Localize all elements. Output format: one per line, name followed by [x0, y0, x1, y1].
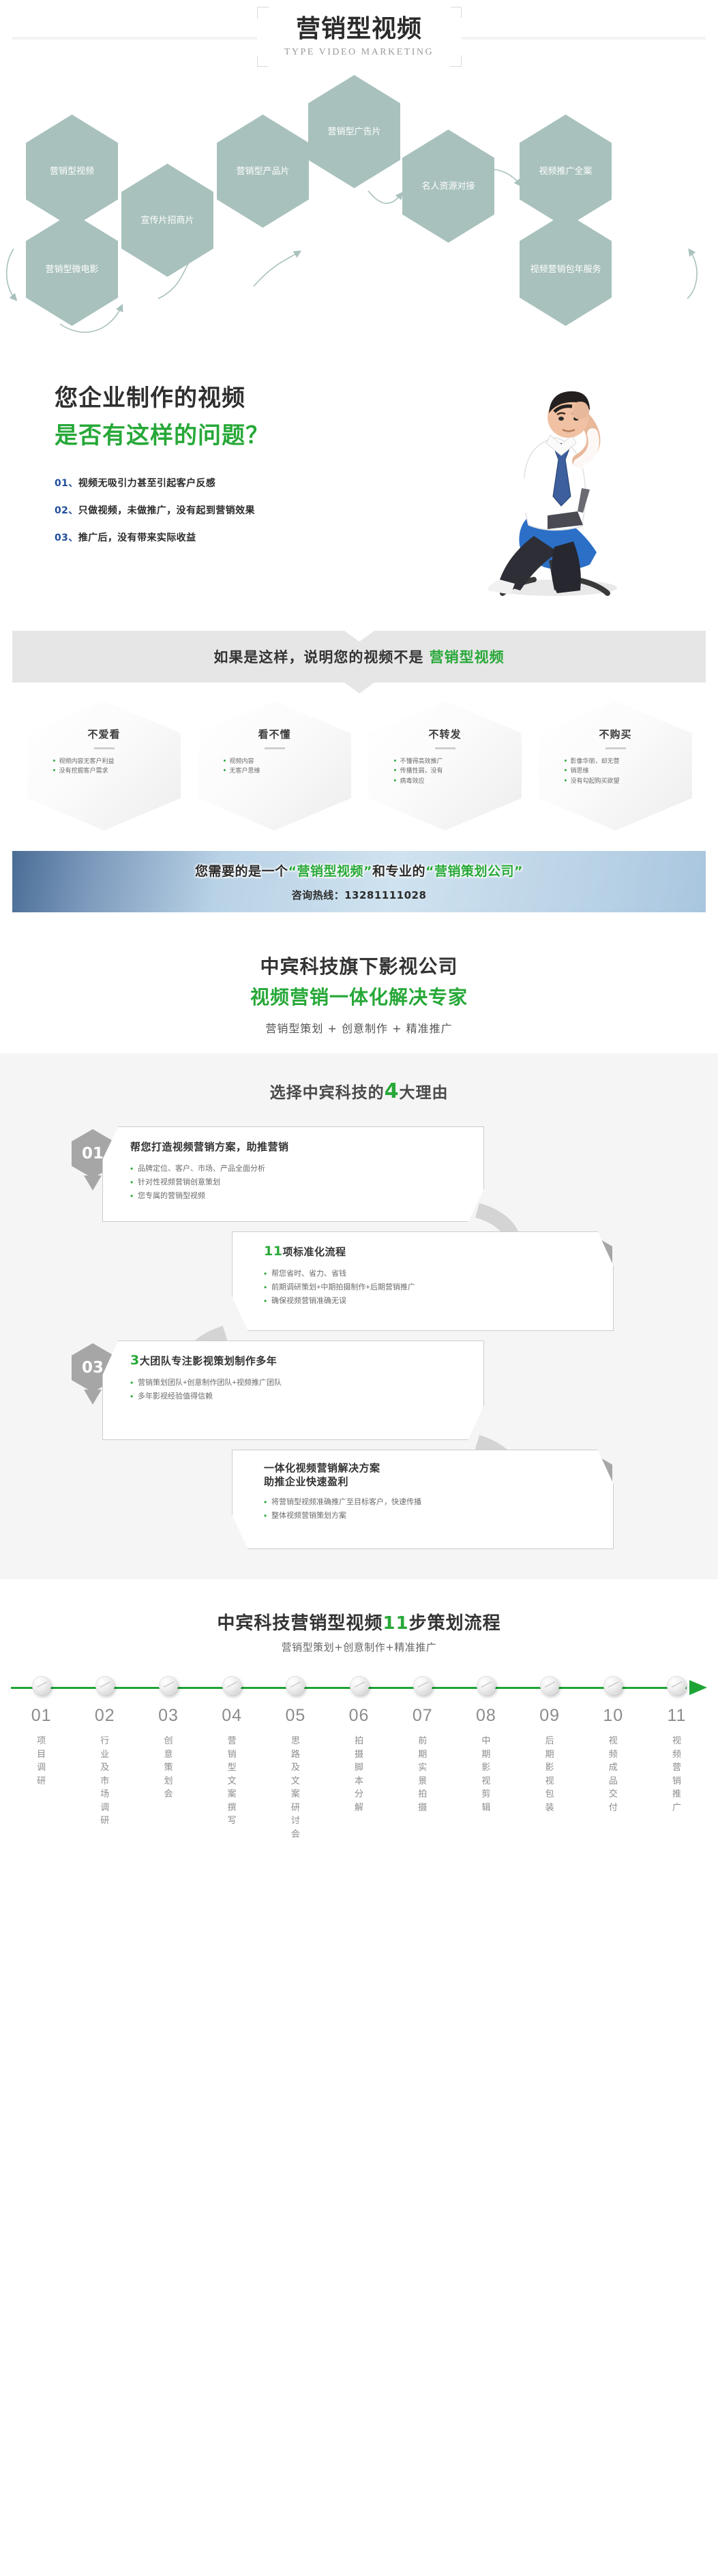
reason-row-04: 04 一体化视频营销解决方案 助推企业快速盈利 将营销型视频准确推广至目标客户，… [0, 1443, 718, 1552]
hotline-headline: 您需要的是一个“营销型视频”和专业的“营销策划公司” [195, 861, 523, 880]
timeline-step-08[interactable]: 08 中期影视剪辑 [454, 1676, 518, 1840]
reason-heading: 一体化视频营销解决方案 助推企业快速盈利 [264, 1461, 586, 1489]
hotline-quote-2: “营销策划公司” [425, 864, 523, 879]
reason-heading-text: 帮您打造视频营销方案，助推营销 [130, 1141, 289, 1153]
symptom-bullet: 不懂得高效推广 [394, 756, 496, 766]
reason-number: 03 [82, 1359, 104, 1377]
step-label: 行业及市场调研 [98, 1734, 112, 1827]
symptom-divider [94, 747, 115, 749]
symptom-bullet: 传播性弱，没有 [394, 766, 496, 775]
flow-header: 中宾科技营销型视频11步策划流程 营销型策划+创意制作+精准推广 [0, 1579, 718, 1672]
reason-badge-tail-icon [84, 1390, 102, 1405]
reason-bullet: 营销策划团队+创意制作团队+视频推广团队 [130, 1376, 466, 1390]
timeline-dot-icon [222, 1676, 241, 1695]
problem-item-number: 03、 [55, 533, 78, 543]
service-hex-label: 视频营销包年服务 [526, 263, 605, 276]
timeline-dot-icon [286, 1676, 305, 1695]
problem-text-block: 您企业制作的视频 是否有这样的问题？ 01、视频无吸引力甚至引起客户反感 02、… [55, 379, 269, 558]
reason-bullet: 将营销型视频准确推广至目标客户，快速传播 [264, 1495, 586, 1509]
problem-item-text: 只做视频，未做推广，没有起到营销效果 [78, 505, 255, 515]
service-hex-label: 视频推广全案 [535, 165, 596, 178]
service-hexagon-cluster: 营销型视频 营销型微电影 宣传片招商片 营销型产品片 营销型广告片 名人资源对接… [0, 82, 718, 348]
problem-item-number: 01、 [55, 478, 78, 489]
symptom-bullet: 无客户思维 [224, 766, 326, 775]
reason-card-02[interactable]: 11项标准化流程 帮您省时、省力、省钱 前期调研策划+中期拍摄制作+后期营销推广… [232, 1231, 614, 1331]
timeline-dot-icon [540, 1676, 559, 1695]
reason-card-01[interactable]: 帮您打造视频营销方案，助推营销 品牌定位、客户、市场、产品全面分析 针对性视频营… [102, 1126, 484, 1222]
callout-notch-top-icon [344, 631, 374, 642]
step-number: 04 [222, 1706, 242, 1726]
symptom-title: 不转发 [428, 727, 461, 741]
reason-bullet: 针对性视频营销创意策划 [130, 1175, 466, 1189]
timeline-step-11[interactable]: 11 视频营销推广 [645, 1676, 708, 1840]
reason-row-02: 02 11项标准化流程 帮您省时、省力、省钱 前期调研策划+中期拍摄制作+后期营… [0, 1225, 718, 1334]
timeline-dot-icon [413, 1676, 432, 1695]
step-label: 中期影视剪辑 [479, 1734, 493, 1814]
problem-list-item: 01、视频无吸引力甚至引起客户反感 [55, 476, 269, 490]
step-number: 07 [413, 1706, 433, 1726]
step-label: 后期影视包装 [543, 1734, 556, 1814]
hotline-banner: 您需要的是一个“营销型视频”和专业的“营销策划公司” 咨询热线：13281111… [12, 851, 706, 912]
step-label: 视频成品交付 [606, 1734, 620, 1814]
callout-text: 如果是这样，说明您的视频不是 营销型视频 [213, 646, 504, 667]
problem-section: 您企业制作的视频 是否有这样的问题？ 01、视频无吸引力甚至引起客户反感 02、… [0, 348, 718, 620]
symptom-bullet-cont: 病毒效应 [394, 776, 496, 785]
reason-bullet: 品牌定位、客户、市场、产品全面分析 [130, 1162, 466, 1175]
reason-heading-line2: 助推企业快速盈利 [264, 1476, 348, 1488]
landing-page: 营销型视频 TYPE VIDEO MARKETING 营销型视频 [0, 0, 718, 1876]
service-hex-ad-film[interactable]: 营销型广告片 [308, 75, 400, 188]
symptom-title: 看不懂 [258, 727, 290, 741]
reason-heading: 3大团队专注影视策划制作多年 [130, 1352, 466, 1370]
step-label: 视频营销推广 [670, 1734, 683, 1814]
problem-headline-line1: 您企业制作的视频 [55, 379, 269, 413]
timeline-dot-icon [350, 1676, 369, 1695]
page-title: 营销型视频 TYPE VIDEO MARKETING [257, 7, 462, 67]
symptom-divider [265, 747, 285, 749]
timeline-step-02[interactable]: 02 行业及市场调研 [73, 1676, 136, 1840]
reason-heading-text: 项标准化流程 [282, 1246, 346, 1258]
reason-heading-line1: 一体化视频营销解决方案 [264, 1462, 380, 1474]
symptom-bullet: 没有勾起购买欲望 [565, 776, 667, 785]
service-hex-label: 宣传片招商片 [136, 214, 198, 227]
timeline-step-01[interactable]: 01 项目调研 [10, 1676, 73, 1840]
frustrated-businessman-photo [452, 375, 657, 600]
timeline-dot-icon [667, 1676, 686, 1695]
symptom-card-not-understand: 看不懂 视频内容 无客户思维 [198, 710, 351, 840]
symptom-bullet: 视频内容无客户利益 [53, 756, 155, 766]
timeline-step-03[interactable]: 03 创意策划会 [136, 1676, 200, 1840]
reason-row-01: 01 帮您打造视频营销方案，助推营销 品牌定位、客户、市场、产品全面分析 针对性… [0, 1122, 718, 1225]
hotline-number[interactable]: 咨询热线：13281111028 [292, 888, 427, 902]
service-hex-label: 名人资源对接 [417, 180, 479, 193]
reasons-title: 选择中宾科技的4大理由 [0, 1079, 718, 1103]
service-hex-annual-service[interactable]: 视频营销包年服务 [520, 213, 612, 326]
problem-list-item: 03、推广后，没有带来实际收益 [55, 530, 269, 544]
symptom-divider [605, 747, 626, 749]
symptom-bullet: 影像华丽，却无营 [565, 756, 667, 766]
symptom-bullet-cont: 销思维 [565, 766, 667, 775]
reason-bullet: 前期调研策划+中期拍摄制作+后期营销推广 [264, 1280, 586, 1294]
service-hex-celebrity-resource[interactable]: 名人资源对接 [402, 130, 494, 243]
step-label: 项目调研 [35, 1734, 48, 1787]
reason-card-04[interactable]: 一体化视频营销解决方案 助推企业快速盈利 将营销型视频准确推广至目标客户，快速传… [232, 1450, 614, 1549]
hotline-quote-1: “营销型视频” [288, 864, 372, 879]
hotline-lead: 您需要的是一个 [195, 864, 288, 879]
step-number: 06 [349, 1706, 370, 1726]
problem-list: 01、视频无吸引力甚至引起客户反感 02、只做视频，未做推广，没有起到营销效果 … [55, 476, 269, 544]
reasons-title-number: 4 [385, 1079, 400, 1103]
step-number: 11 [667, 1706, 686, 1726]
flow-title-em: 11 [383, 1613, 408, 1634]
reason-heading-em: 11 [264, 1244, 282, 1259]
symptom-card-not-buy: 不购买 影像华丽，却无营 销思维 没有勾起购买欲望 [539, 710, 692, 840]
callout-highlight: 营销型视频 [430, 649, 505, 665]
timeline-dot-icon [477, 1676, 496, 1695]
symptom-card-not-watch: 不爱看 视频内容无客户利益 没有挖掘客户需求 [27, 710, 181, 840]
flow-title-pre: 中宾科技营销型视频 [217, 1613, 383, 1634]
flow-subtitle: 营销型策划+创意制作+精准推广 [0, 1640, 718, 1654]
timeline-step-09[interactable]: 09 后期影视包装 [518, 1676, 582, 1840]
symptom-card-not-share: 不转发 不懂得高效推广 传播性弱，没有 病毒效应 [368, 710, 522, 840]
reason-row-03: 03 3大团队专注影视策划制作多年 营销策划团队+创意制作团队+视频推广团队 多… [0, 1334, 718, 1443]
symptom-bullet: 没有挖掘客户需求 [53, 766, 155, 775]
reasons-title-prefix: 选择中宾科技的 [270, 1084, 385, 1102]
service-hex-label: 营销型产品片 [232, 165, 293, 178]
problem-item-number: 02、 [55, 505, 78, 516]
company-tagline: 视频营销一体化解决专家 [0, 983, 718, 1010]
timeline-dot-icon [603, 1676, 623, 1695]
symptom-hexagon-row: 不爱看 视频内容无客户利益 没有挖掘客户需求 看不懂 视频内容 无客户思维 不转… [0, 695, 718, 839]
page-title-cn: 营销型视频 [296, 16, 422, 43]
timeline-step-06[interactable]: 06 拍摄脚本分解 [327, 1676, 391, 1840]
symptom-divider [435, 747, 455, 749]
reason-bullet: 帮您省时、省力、省钱 [264, 1267, 586, 1280]
step-number: 10 [603, 1706, 623, 1726]
page-header: 营销型视频 TYPE VIDEO MARKETING [0, 0, 718, 82]
problem-headline-line2: 是否有这样的问题？ [55, 417, 269, 450]
reason-bullet: 整体视频营销策划方案 [264, 1509, 586, 1523]
reason-heading-text: 大团队专注影视策划制作多年 [140, 1355, 278, 1367]
reason-heading: 11项标准化流程 [264, 1243, 586, 1261]
timeline-step-07[interactable]: 07 前期实景拍摄 [391, 1676, 454, 1840]
step-number: 03 [158, 1706, 179, 1726]
company-name: 中宾科技旗下影视公司 [0, 952, 718, 979]
reason-number: 01 [82, 1145, 104, 1163]
reason-bullet: 确保视频营销准确无误 [264, 1294, 586, 1308]
flow-title: 中宾科技营销型视频11步策划流程 [0, 1609, 718, 1634]
timeline-dot-icon [95, 1676, 115, 1695]
timeline-step-05[interactable]: 05 思路及文案研讨会 [264, 1676, 327, 1840]
company-services: 营销型策划 + 创意制作 + 精准推广 [0, 1019, 718, 1036]
symptom-title: 不购买 [599, 727, 631, 741]
timeline-dot-icon [32, 1676, 51, 1695]
step-label: 前期实景拍摄 [416, 1734, 430, 1814]
timeline-step-04[interactable]: 04 营销型文案撰写 [200, 1676, 264, 1840]
reason-card-03[interactable]: 3大团队专注影视策划制作多年 营销策划团队+创意制作团队+视频推广团队 多年影视… [102, 1341, 484, 1440]
service-hex-label: 营销型广告片 [323, 125, 385, 138]
hotline-mid: 和专业的 [372, 864, 425, 879]
step-number: 05 [285, 1706, 305, 1726]
flow-timeline: 01 项目调研 02 行业及市场调研 03 创意策划会 04 营销型文案撰写 0… [0, 1672, 718, 1876]
flow-title-post: 步策划流程 [409, 1613, 501, 1634]
company-intro-section: 中宾科技旗下影视公司 视频营销一体化解决专家 营销型策划 + 创意制作 + 精准… [0, 927, 718, 1053]
corner-bracket-icon [451, 7, 462, 18]
reason-bullet: 多年影视经验值得信赖 [130, 1390, 466, 1403]
step-number: 02 [95, 1706, 115, 1726]
service-hex-label: 营销型视频 [46, 165, 98, 178]
step-number: 01 [31, 1706, 52, 1726]
corner-bracket-icon [257, 56, 268, 67]
problem-item-text: 推广后，没有带来实际收益 [78, 532, 196, 543]
step-label: 营销型文案撰写 [225, 1734, 239, 1827]
service-hex-promo-film[interactable]: 宣传片招商片 [121, 164, 213, 277]
reasons-title-suffix: 大理由 [399, 1084, 448, 1102]
reasons-section: 选择中宾科技的4大理由 01 帮您打造视频营销方案，助推营销 品牌定位、客户、市… [0, 1053, 718, 1579]
service-hex-micro-film[interactable]: 营销型微电影 [26, 213, 118, 326]
page-title-en: TYPE VIDEO MARKETING [284, 47, 434, 58]
reason-heading-em: 3 [130, 1353, 140, 1368]
callout-band-section: 如果是这样，说明您的视频不是 营销型视频 [0, 620, 718, 695]
timeline-step-10[interactable]: 10 视频成品交付 [582, 1676, 645, 1840]
service-hex-product-film[interactable]: 营销型产品片 [217, 115, 309, 228]
service-hex-label: 营销型微电影 [41, 263, 102, 276]
callout-prefix: 如果是这样，说明您的视频不是 [213, 649, 429, 665]
callout-notch-bottom-icon [344, 683, 374, 693]
step-number: 08 [476, 1706, 496, 1726]
service-hex-promotion-plan[interactable]: 视频推广全案 [520, 115, 612, 228]
timeline-dot-icon [159, 1676, 178, 1695]
step-label: 思路及文案研讨会 [288, 1734, 302, 1840]
step-label: 创意策划会 [162, 1734, 175, 1801]
reason-heading: 帮您打造视频营销方案，助推营销 [130, 1138, 466, 1156]
symptom-title: 不爱看 [87, 727, 120, 741]
step-label: 拍摄脚本分解 [353, 1734, 366, 1814]
reason-badge-tail-icon [84, 1175, 102, 1190]
problem-list-item: 02、只做视频，未做推广，没有起到营销效果 [55, 503, 269, 517]
problem-item-text: 视频无吸引力甚至引起客户反感 [78, 477, 216, 488]
hotline-banner-section: 您需要的是一个“营销型视频”和专业的“营销策划公司” 咨询热线：13281111… [0, 839, 718, 927]
step-number: 09 [539, 1706, 560, 1726]
timeline-steps: 01 项目调研 02 行业及市场调研 03 创意策划会 04 营销型文案撰写 0… [10, 1672, 708, 1840]
symptom-bullet: 视频内容 [224, 756, 326, 766]
service-hex-marketing-video[interactable]: 营销型视频 [26, 115, 118, 228]
reason-bullet: 您专属的营销型视频 [130, 1189, 466, 1203]
